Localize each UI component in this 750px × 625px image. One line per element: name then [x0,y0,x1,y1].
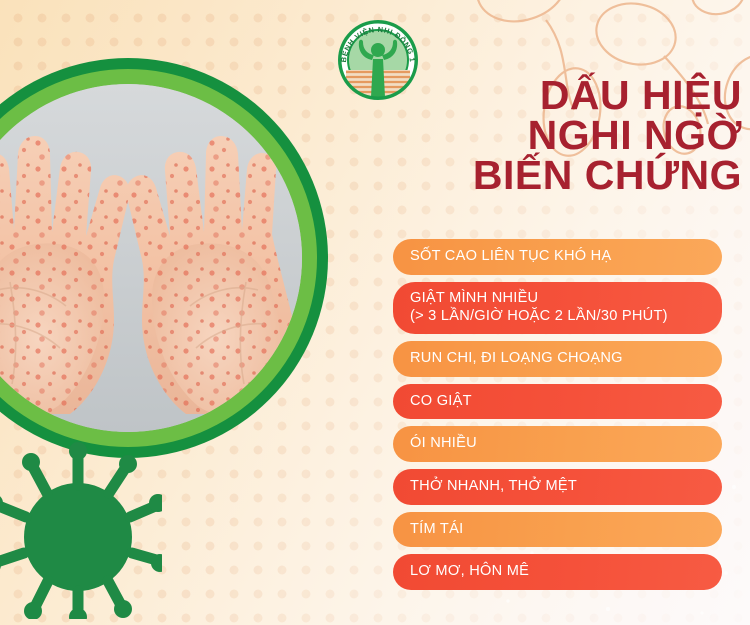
title-line-1: DẤU HIỆU [396,76,742,116]
warning-signs-list: SỐT CAO LIÊN TỤC KHÓ HẠGIẬT MÌNH NHIỀU(>… [393,239,722,590]
warning-sign-label: TÍM TÁI [410,521,463,537]
virus-icon [0,429,162,619]
warning-sign-label: GIẬT MÌNH NHIỀU [410,290,538,306]
title-line-2: NGHI NGỜ [396,116,742,156]
warning-sign-pill: LƠ MƠ, HÔN MÊ [393,554,722,590]
warning-sign-label: SỐT CAO LIÊN TỤC KHÓ HẠ [410,248,611,264]
title-line-3: BIẾN CHỨNG [396,156,742,196]
photo-circle [0,58,328,458]
warning-sign-label: LƠ MƠ, HÔN MÊ [410,563,529,579]
warning-sign-pill: CO GIẬT [393,384,722,420]
page-title: DẤU HIỆU NGHI NGỜ BIẾN CHỨNG [396,76,742,195]
warning-sign-pill: SỐT CAO LIÊN TỤC KHÓ HẠ [393,239,722,275]
warning-sign-label: RUN CHI, ĐI LOẠNG CHOẠNG [410,350,623,366]
warning-sign-pill: ÓI NHIỀU [393,426,722,462]
warning-sign-pill: TÍM TÁI [393,512,722,548]
warning-sign-pill: THỞ NHANH, THỞ MỆT [393,469,722,505]
warning-sign-label: THỞ NHANH, THỞ MỆT [410,478,577,494]
warning-sign-label: CO GIẬT [410,393,472,409]
warning-sign-label: ÓI NHIỀU [410,435,477,451]
infographic-poster: BỆNH VIỆN NHI ĐỒNG 1 DẤU HIỆU NGHI NGỜ B… [0,0,750,625]
warning-sign-sublabel: (> 3 LẦN/GIỜ HOẶC 2 LẦN/30 PHÚT) [410,307,706,326]
warning-sign-pill: RUN CHI, ĐI LOẠNG CHOẠNG [393,341,722,377]
warning-sign-pill: GIẬT MÌNH NHIỀU(> 3 LẦN/GIỜ HOẶC 2 LẦN/3… [393,282,722,334]
